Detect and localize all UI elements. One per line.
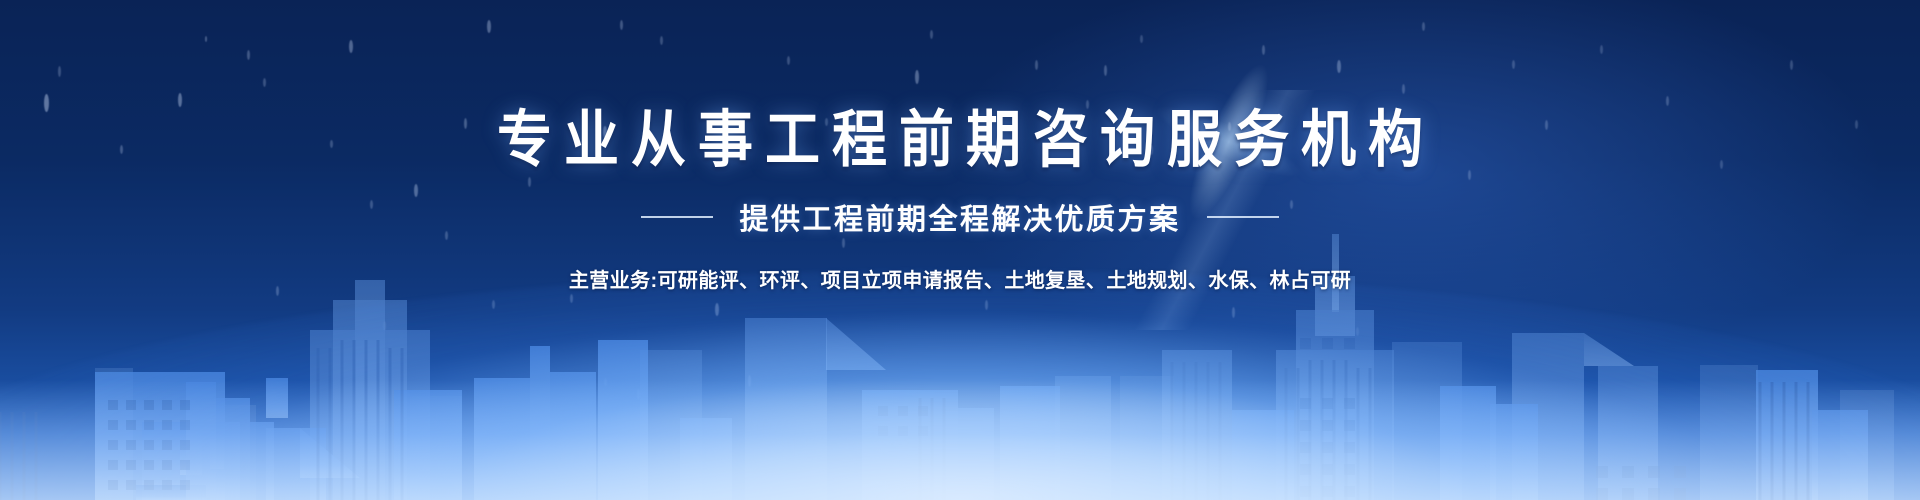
divider-left-icon bbox=[641, 216, 713, 218]
banner-services-list: 主营业务:可研能评、环评、项目立项申请报告、土地复垦、土地规划、水保、林占可研 bbox=[569, 264, 1351, 293]
hero-banner: 专业从事工程前期咨询服务机构 提供工程前期全程解决优质方案 主营业务:可研能评、… bbox=[0, 0, 1920, 500]
banner-subline-row: 提供工程前期全程解决优质方案 bbox=[641, 196, 1278, 238]
divider-right-icon bbox=[1207, 216, 1279, 218]
banner-content: 专业从事工程前期咨询服务机构 提供工程前期全程解决优质方案 主营业务:可研能评、… bbox=[0, 0, 1920, 500]
banner-subline: 提供工程前期全程解决优质方案 bbox=[739, 196, 1180, 238]
banner-headline: 专业从事工程前期咨询服务机构 bbox=[485, 108, 1435, 173]
